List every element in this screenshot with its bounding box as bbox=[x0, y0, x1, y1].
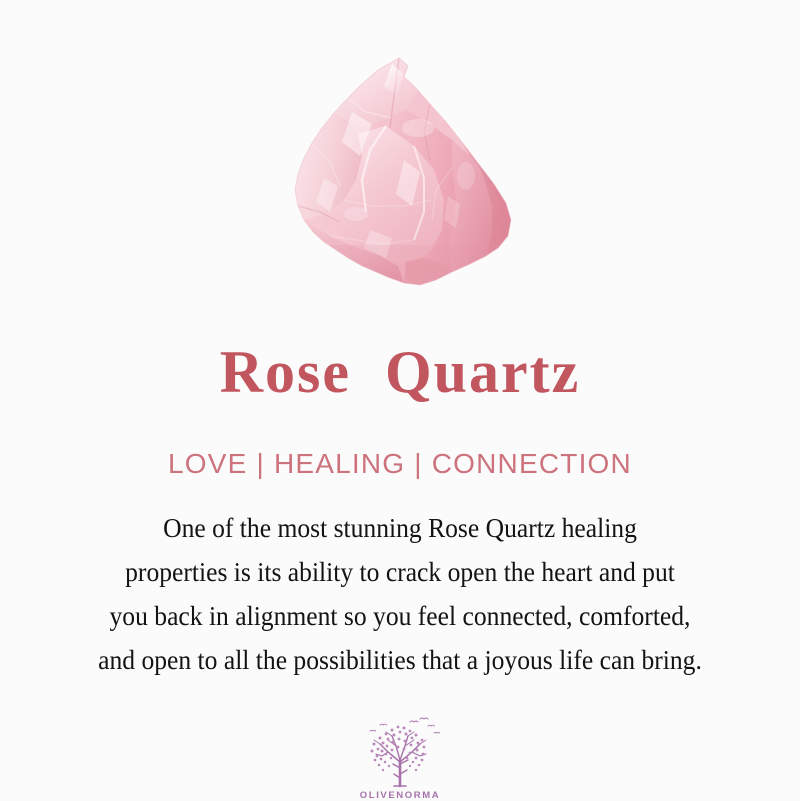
description-line: One of the most stunning Rose Quartz hea… bbox=[56, 506, 744, 550]
keyword-subtitle: LOVE | HEALING | CONNECTION bbox=[168, 450, 632, 478]
crystal-image-container bbox=[0, 0, 800, 300]
brand-wordmark: OLIVENORMA bbox=[360, 790, 440, 801]
description-line: properties is its ability to crack open … bbox=[56, 550, 744, 594]
description-text: One of the most stunning Rose Quartz hea… bbox=[30, 506, 770, 682]
page-title: Rose Quartz bbox=[220, 342, 581, 402]
description-line: and open to all the possibilities that a… bbox=[56, 638, 744, 682]
olivenorma-tree-logo-icon bbox=[350, 716, 450, 788]
crystal-body bbox=[290, 50, 520, 300]
description-line: you back in alignment so you feel connec… bbox=[56, 594, 744, 638]
rose-quartz-crystal-icon bbox=[0, 0, 800, 300]
brand-logo: OLIVENORMA bbox=[340, 716, 460, 801]
product-card: Rose Quartz LOVE | HEALING | CONNECTION … bbox=[0, 0, 800, 800]
